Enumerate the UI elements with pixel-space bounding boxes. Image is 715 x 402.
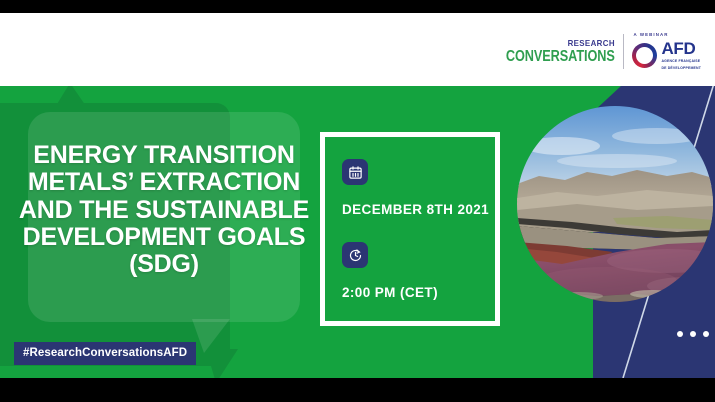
afd-logo-main: AFD AGENCE FRANÇAISE DE DÉVELOPPEMENT [632, 40, 701, 70]
slide-body: ENERGY TRANSITION METALS’ EXTRACTION AND… [0, 86, 715, 378]
letterbox-bottom [0, 378, 715, 402]
dots-decoration [677, 331, 709, 337]
mine-photo [517, 106, 713, 302]
event-details-box: DECEMBER 8TH 2021 2:00 PM (CET) [320, 132, 500, 326]
webinar-tag: A WEBINAR [633, 33, 668, 37]
afd-subtitle-line2: DE DÉVELOPPEMENT [661, 66, 701, 70]
speech-bubble-dark-tail-bottom [206, 349, 238, 378]
rc-logo-conversations-text: CONVERSATIONS [506, 49, 615, 65]
dot-2 [690, 331, 696, 337]
dot-1 [677, 331, 683, 337]
clock-icon [342, 242, 368, 268]
afd-ring-icon [632, 43, 657, 68]
logo-row: RESEARCH CONVERSATIONS A WEBINAR AFD AGE… [482, 33, 701, 70]
afd-wordmark: AFD AGENCE FRANÇAISE DE DÉVELOPPEMENT [661, 40, 701, 70]
webinar-slide: RESEARCH CONVERSATIONS A WEBINAR AFD AGE… [0, 0, 715, 402]
header-band: RESEARCH CONVERSATIONS A WEBINAR AFD AGE… [0, 13, 715, 86]
event-date: DECEMBER 8TH 2021 [342, 202, 495, 217]
logo-divider [623, 34, 624, 69]
afd-logo: A WEBINAR AFD AGENCE FRANÇAISE DE DÉVELO… [632, 33, 701, 70]
hashtag-badge: #ResearchConversationsAFD [14, 342, 196, 365]
letterbox-top [0, 0, 715, 13]
afd-letters: AFD [661, 40, 701, 57]
research-conversations-logo: RESEARCH CONVERSATIONS [482, 33, 624, 64]
page-title: ENERGY TRANSITION METALS’ EXTRACTION AND… [16, 142, 312, 278]
event-time: 2:00 PM (CET) [342, 285, 495, 300]
dot-3 [703, 331, 709, 337]
speech-bubble-dark-tail-top [54, 86, 88, 109]
speech-bubble-light-tail [192, 319, 230, 353]
afd-subtitle-line1: AGENCE FRANÇAISE [661, 59, 701, 63]
rc-logo-research-text: RESEARCH [567, 39, 614, 48]
calendar-icon [342, 159, 368, 185]
